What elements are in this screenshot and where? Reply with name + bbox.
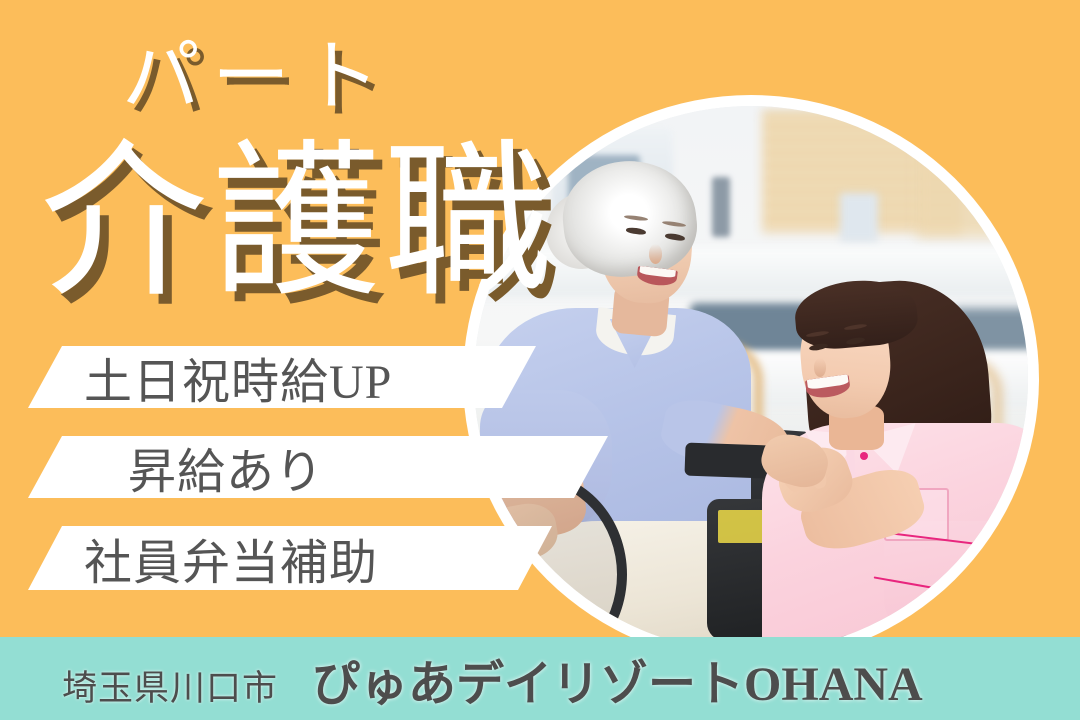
photo-canvas xyxy=(474,106,1028,652)
feature-banner-2: 昇給あり xyxy=(28,436,608,498)
feature-banner-3-label: 社員弁当補助 xyxy=(84,523,378,593)
feature-banner-1-label: 土日祝時給UP xyxy=(84,342,392,412)
wood-blinds-right xyxy=(917,128,1028,237)
counter-bottle xyxy=(712,177,730,237)
feature-banner-1: 土日祝時給UP xyxy=(28,346,536,408)
footer-content: 埼玉県川口市 ぴゅあデイリゾートOHANA xyxy=(0,644,923,714)
feature-banner-3: 社員弁当補助 xyxy=(28,526,552,590)
feature-banner-2-label: 昇給あり xyxy=(128,432,324,502)
facility-name: ぴゅあデイリゾートOHANA xyxy=(312,644,923,714)
employment-type-title: パート xyxy=(122,38,392,116)
shelf-item xyxy=(840,193,879,242)
footer-bar: 埼玉県川口市 ぴゅあデイリゾートOHANA xyxy=(0,637,1080,720)
facility-region: 埼玉県川口市 xyxy=(62,660,278,711)
job-ad-banner: パート 介護職 土日祝時給UP 昇給あり 社員弁当補助 埼玉県川口市 ぴゅあデイ… xyxy=(0,0,1080,720)
caregiver-photo-circle xyxy=(474,106,1028,652)
